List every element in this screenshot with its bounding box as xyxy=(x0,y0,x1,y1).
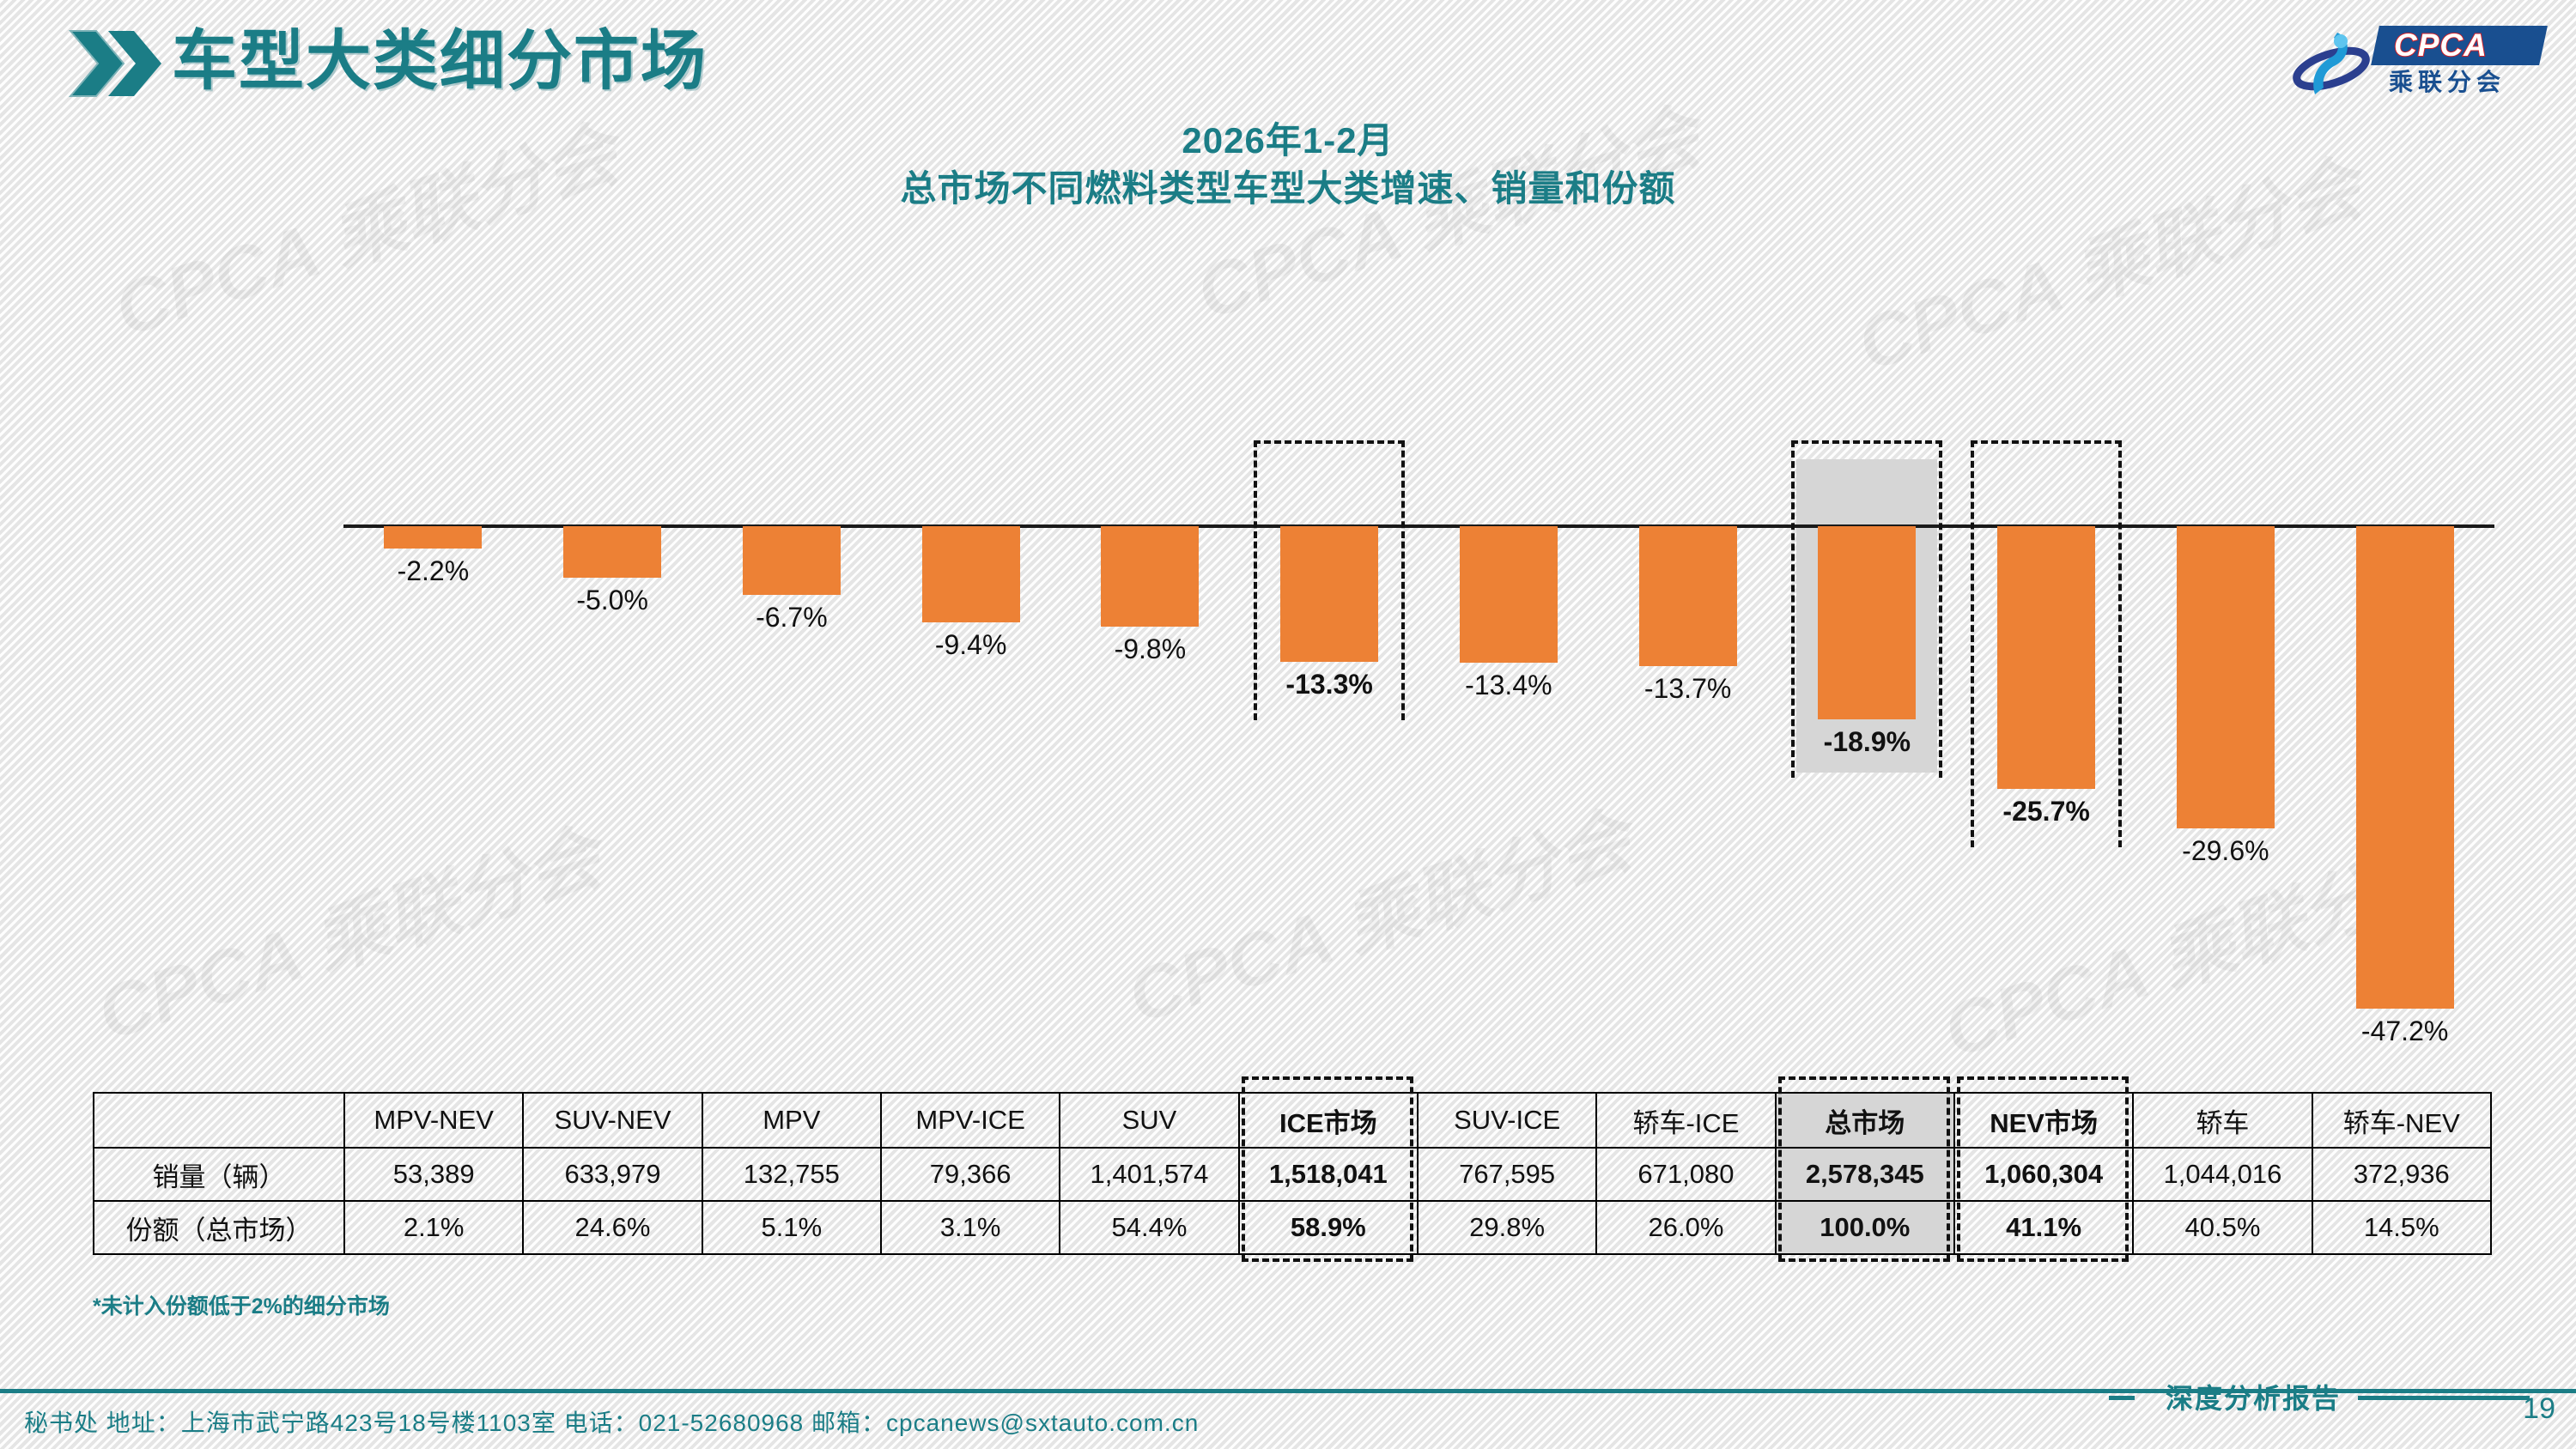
watermark: CPCA 乘联分会 xyxy=(1113,780,1643,1044)
page-title: 车型大类细分市场 xyxy=(172,17,708,106)
table-cell-sales: 53,389 xyxy=(344,1148,523,1201)
chart-bar xyxy=(563,526,661,578)
table-cell-share: 29.8% xyxy=(1418,1201,1596,1254)
footnote: *未计入份额低于2%的细分市场 xyxy=(93,1289,390,1320)
table-cell-share: 5.1% xyxy=(702,1201,881,1254)
table-cell-share: 2.1% xyxy=(344,1201,523,1254)
chart-bar-group: -6.7% xyxy=(702,459,882,1069)
chart-bar-group: -29.6% xyxy=(2136,459,2316,1069)
chart-bar-value-label: -6.7% xyxy=(756,602,828,634)
chart-bar-group: -13.3% xyxy=(1240,459,1419,1069)
table-cell-sales: 1,401,574 xyxy=(1060,1148,1238,1201)
chart-title: 2026年1-2月 总市场不同燃料类型车型大类增速、销量和份额 xyxy=(0,117,2576,213)
zero-axis-line xyxy=(343,524,2494,528)
table-cell-share: 40.5% xyxy=(2133,1201,2312,1254)
page-number: 19 xyxy=(2504,1392,2555,1426)
table-column-header: 轿车-ICE xyxy=(1596,1093,1775,1148)
chart-bar xyxy=(743,526,841,595)
chart-bar-group: -47.2% xyxy=(2315,459,2494,1069)
chart-bar-value-label: -5.0% xyxy=(576,585,648,616)
chart-bar xyxy=(1818,526,1916,719)
chart-title-period: 2026年1-2月 xyxy=(0,117,2576,165)
table-cell-share: 24.6% xyxy=(523,1201,702,1254)
table-column-header: SUV-ICE xyxy=(1418,1093,1596,1148)
logo-acronym: CPCA xyxy=(2394,27,2545,64)
chart-bar xyxy=(1639,526,1737,666)
table-emphasis-box xyxy=(1957,1076,2129,1262)
chart-plot-area: -2.2%-5.0%-6.7%-9.4%-9.8%-13.3%-13.4%-13… xyxy=(343,459,2494,1069)
data-table: MPV-NEVSUV-NEVMPVMPV-ICESUVICE市场SUV-ICE轿… xyxy=(93,1092,2490,1255)
chart-bar-value-label: -13.3% xyxy=(1285,669,1372,700)
table-cell-share: 14.5% xyxy=(2312,1201,2491,1254)
cpca-wordmark: CPCA 乘联分会 xyxy=(2375,26,2547,101)
chart-bar xyxy=(2356,526,2454,1009)
badge-label: 深度分析报告 xyxy=(2166,1377,2341,1416)
chart-bar-group: -9.4% xyxy=(881,459,1060,1069)
table-cell-sales: 79,366 xyxy=(881,1148,1060,1201)
slide-canvas: CPCA 乘联分会 CPCA 乘联分会 CPCA 乘联分会 CPCA 乘联分会 … xyxy=(0,0,2576,1449)
chart-bar-value-label: -25.7% xyxy=(2002,796,2089,828)
chart-bar-value-label: -2.2% xyxy=(398,555,470,587)
logo-chinese-name: 乘联分会 xyxy=(2389,67,2506,98)
chart-bar xyxy=(2177,526,2275,828)
double-chevron-right-icon xyxy=(67,27,161,100)
chart-bar xyxy=(1280,526,1378,662)
chart-bar-value-label: -9.8% xyxy=(1115,634,1187,665)
chart-bar-group: -25.7% xyxy=(1957,459,2136,1069)
table-column-header: MPV-ICE xyxy=(881,1093,1060,1148)
table-column-header: MPV xyxy=(702,1093,881,1148)
footer-badge: 深度分析报告 xyxy=(2109,1363,2555,1442)
total-market-highlight-band xyxy=(1796,459,1937,773)
chart-bar-group: -13.4% xyxy=(1419,459,1599,1069)
table-cell-sales: 633,979 xyxy=(523,1148,702,1201)
chart-bar xyxy=(1101,526,1199,627)
chart-bar-group: -18.9% xyxy=(1777,459,1957,1069)
table-cell-share: 26.0% xyxy=(1596,1201,1775,1254)
watermark: CPCA 乘联分会 xyxy=(82,797,612,1061)
chart-emphasis-box xyxy=(1254,440,1405,720)
chart-bar-value-label: -13.4% xyxy=(1465,670,1552,701)
cpca-swoosh-icon xyxy=(2293,27,2370,101)
table-cell-share: 3.1% xyxy=(881,1201,1060,1254)
chart-bar-value-label: -29.6% xyxy=(2182,835,2269,867)
table-cell-share: 54.4% xyxy=(1060,1201,1238,1254)
chart-bar-group: -5.0% xyxy=(523,459,702,1069)
table-cell-sales: 671,080 xyxy=(1596,1148,1775,1201)
slide-header: 车型大类细分市场 CPCA 乘联分会 xyxy=(0,0,2576,129)
badge-left-dash xyxy=(2109,1396,2135,1400)
chart-bar xyxy=(922,526,1020,622)
table-cell-sales: 372,936 xyxy=(2312,1148,2491,1201)
row-label-share: 份额（总市场） xyxy=(94,1201,344,1254)
table-cell-sales: 767,595 xyxy=(1418,1148,1596,1201)
chart-bar xyxy=(1460,526,1558,663)
table-emphasis-box xyxy=(1778,1076,1950,1262)
table-corner-cell xyxy=(94,1093,344,1148)
chart-emphasis-box xyxy=(1791,440,1942,778)
table-column-header: 轿车-NEV xyxy=(2312,1093,2491,1148)
chart-title-subject: 总市场不同燃料类型车型大类增速、销量和份额 xyxy=(0,165,2576,213)
chart-bar xyxy=(1997,526,2095,789)
chart-emphasis-box xyxy=(1971,440,2122,847)
table-column-header: SUV xyxy=(1060,1093,1238,1148)
table-column-header: SUV-NEV xyxy=(523,1093,702,1148)
chart-bar-value-label: -13.7% xyxy=(1644,673,1731,705)
table-cell-sales: 1,044,016 xyxy=(2133,1148,2312,1201)
watermark: CPCA 乘联分会 xyxy=(1929,815,2458,1078)
chart-bar-group: -13.7% xyxy=(1598,459,1777,1069)
table-column-header: MPV-NEV xyxy=(344,1093,523,1148)
chart-bar-value-label: -9.4% xyxy=(935,629,1007,661)
chart-bar-group: -9.8% xyxy=(1060,459,1240,1069)
chart-bar xyxy=(384,526,482,549)
footer-contact-info: 秘书处 地址：上海市武宁路423号18号楼1103室 电话：021-526809… xyxy=(24,1404,1199,1439)
row-label-sales: 销量（辆） xyxy=(94,1148,344,1201)
table-cell-sales: 132,755 xyxy=(702,1148,881,1201)
cpca-logo: CPCA 乘联分会 xyxy=(2293,22,2550,105)
table-column-header: 轿车 xyxy=(2133,1093,2312,1148)
table-emphasis-box xyxy=(1242,1076,1413,1262)
chart-bar-group: -2.2% xyxy=(343,459,523,1069)
chart-bar-value-label: -47.2% xyxy=(2361,1016,2448,1047)
chart-bar-value-label: -18.9% xyxy=(1824,726,1911,758)
